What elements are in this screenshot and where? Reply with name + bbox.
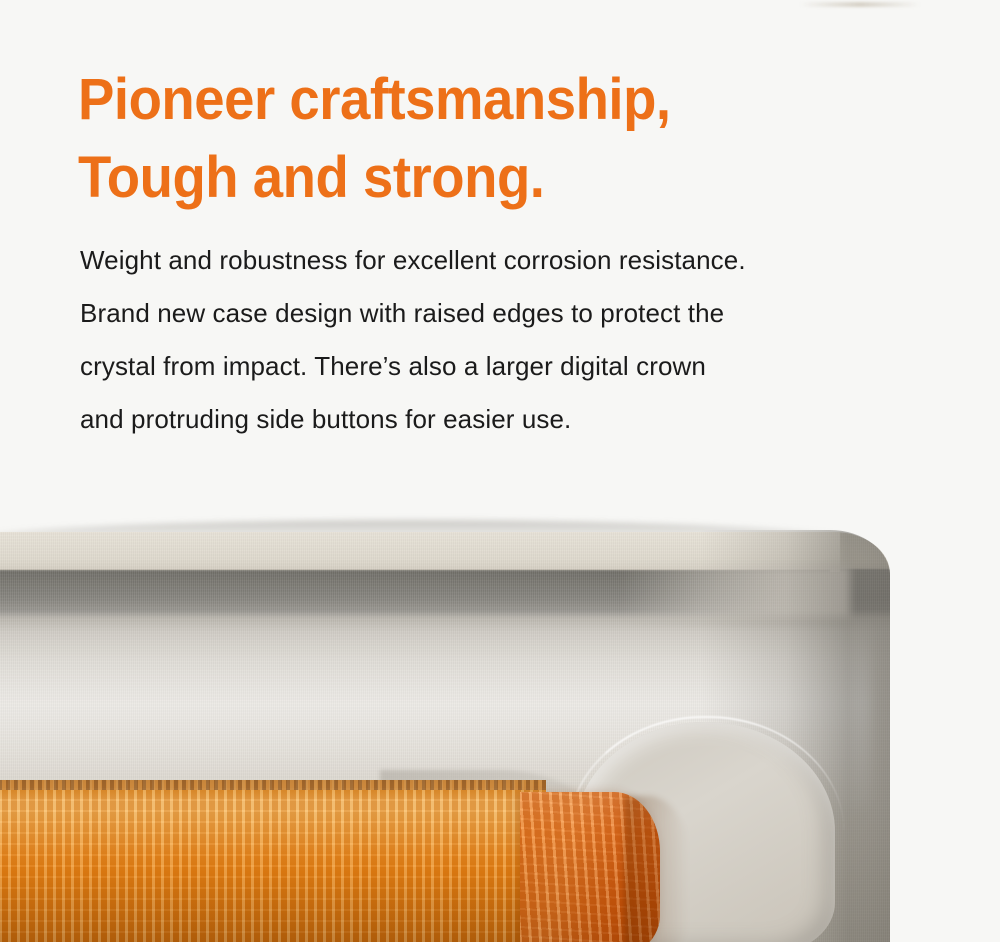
woven-band-texture <box>0 780 546 942</box>
page-headline: Pioneer craftsmanship, Tough and strong. <box>78 61 905 217</box>
top-edge-artifact <box>800 2 920 7</box>
woven-band-top-stitch <box>0 780 546 790</box>
product-photo <box>0 500 1000 942</box>
body-copy: Weight and robustness for excellent corr… <box>80 234 940 446</box>
woven-band-end-shadow <box>624 796 688 942</box>
body-copy-line-2: Brand new case design with raised edges … <box>80 287 940 340</box>
body-copy-line-4: and protruding side buttons for easier u… <box>80 393 940 446</box>
copy-block: Pioneer craftsmanship, Tough and strong.… <box>0 0 1000 530</box>
marketing-page: Pioneer craftsmanship, Tough and strong.… <box>0 0 1000 942</box>
body-copy-line-3: crystal from impact. There’s also a larg… <box>80 340 940 393</box>
body-copy-line-1: Weight and robustness for excellent corr… <box>80 234 940 287</box>
